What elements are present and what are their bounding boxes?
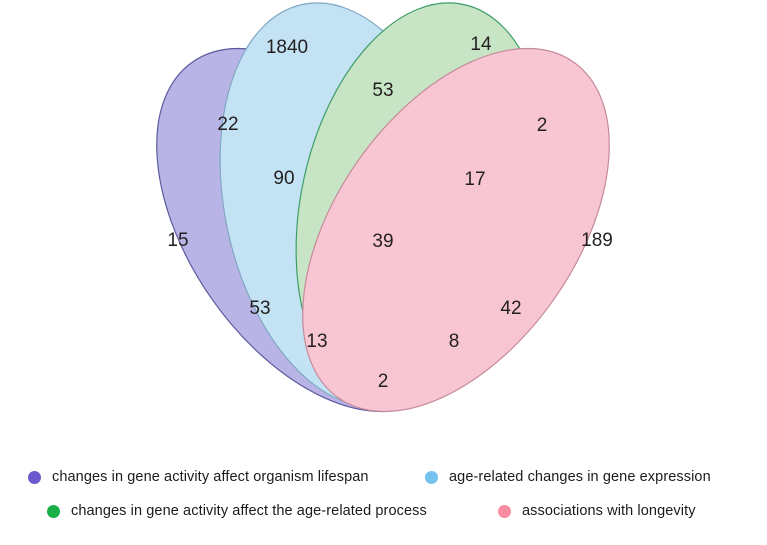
legend-label-expression: age-related changes in gene expression (449, 469, 711, 485)
legend-swatch-expression (425, 471, 438, 484)
venn-count-expression-only: 1840 (266, 37, 308, 58)
legend-item-expression: age-related changes in gene expression (425, 469, 711, 485)
venn-count-all-four: 39 (372, 231, 393, 252)
venn-count-lifespan-expression-longevity: 53 (249, 298, 270, 319)
legend-label-process: changes in gene activity affect the age-… (71, 503, 427, 519)
venn-count-lifespan-longevity: 13 (306, 331, 327, 352)
legend-swatch-longevity (498, 505, 511, 518)
legend: changes in gene activity affect organism… (0, 455, 767, 545)
legend-swatch-lifespan (28, 471, 41, 484)
venn-count-lifespan-only: 15 (167, 230, 188, 251)
legend-swatch-process (47, 505, 60, 518)
venn-count-lifespan-expression: 22 (217, 114, 238, 135)
legend-item-longevity: associations with longevity (498, 503, 696, 519)
legend-label-longevity: associations with longevity (522, 503, 696, 519)
legend-label-lifespan: changes in gene activity affect organism… (52, 469, 369, 485)
venn-canvas: 184014532229017153918953421382 (0, 0, 767, 455)
venn-count-process-longevity: 2 (537, 115, 548, 136)
venn-count-process-expression-longevity-lower: 8 (449, 331, 460, 352)
venn-count-lifespan-process-longevity: 2 (378, 371, 389, 392)
venn-count-longevity-only: 189 (581, 230, 613, 251)
venn-count-lifespan-expression-process: 90 (273, 168, 294, 189)
venn-count-process-only: 14 (470, 34, 492, 55)
legend-item-process: changes in gene activity affect the age-… (47, 503, 427, 519)
venn-count-expression-longevity: 42 (500, 298, 521, 319)
venn-count-expression-process: 53 (372, 80, 393, 101)
legend-item-lifespan: changes in gene activity affect organism… (28, 469, 369, 485)
venn-diagram-figure: 184014532229017153918953421382 changes i… (0, 0, 767, 545)
venn-count-expression-process-longevity: 17 (464, 169, 485, 190)
